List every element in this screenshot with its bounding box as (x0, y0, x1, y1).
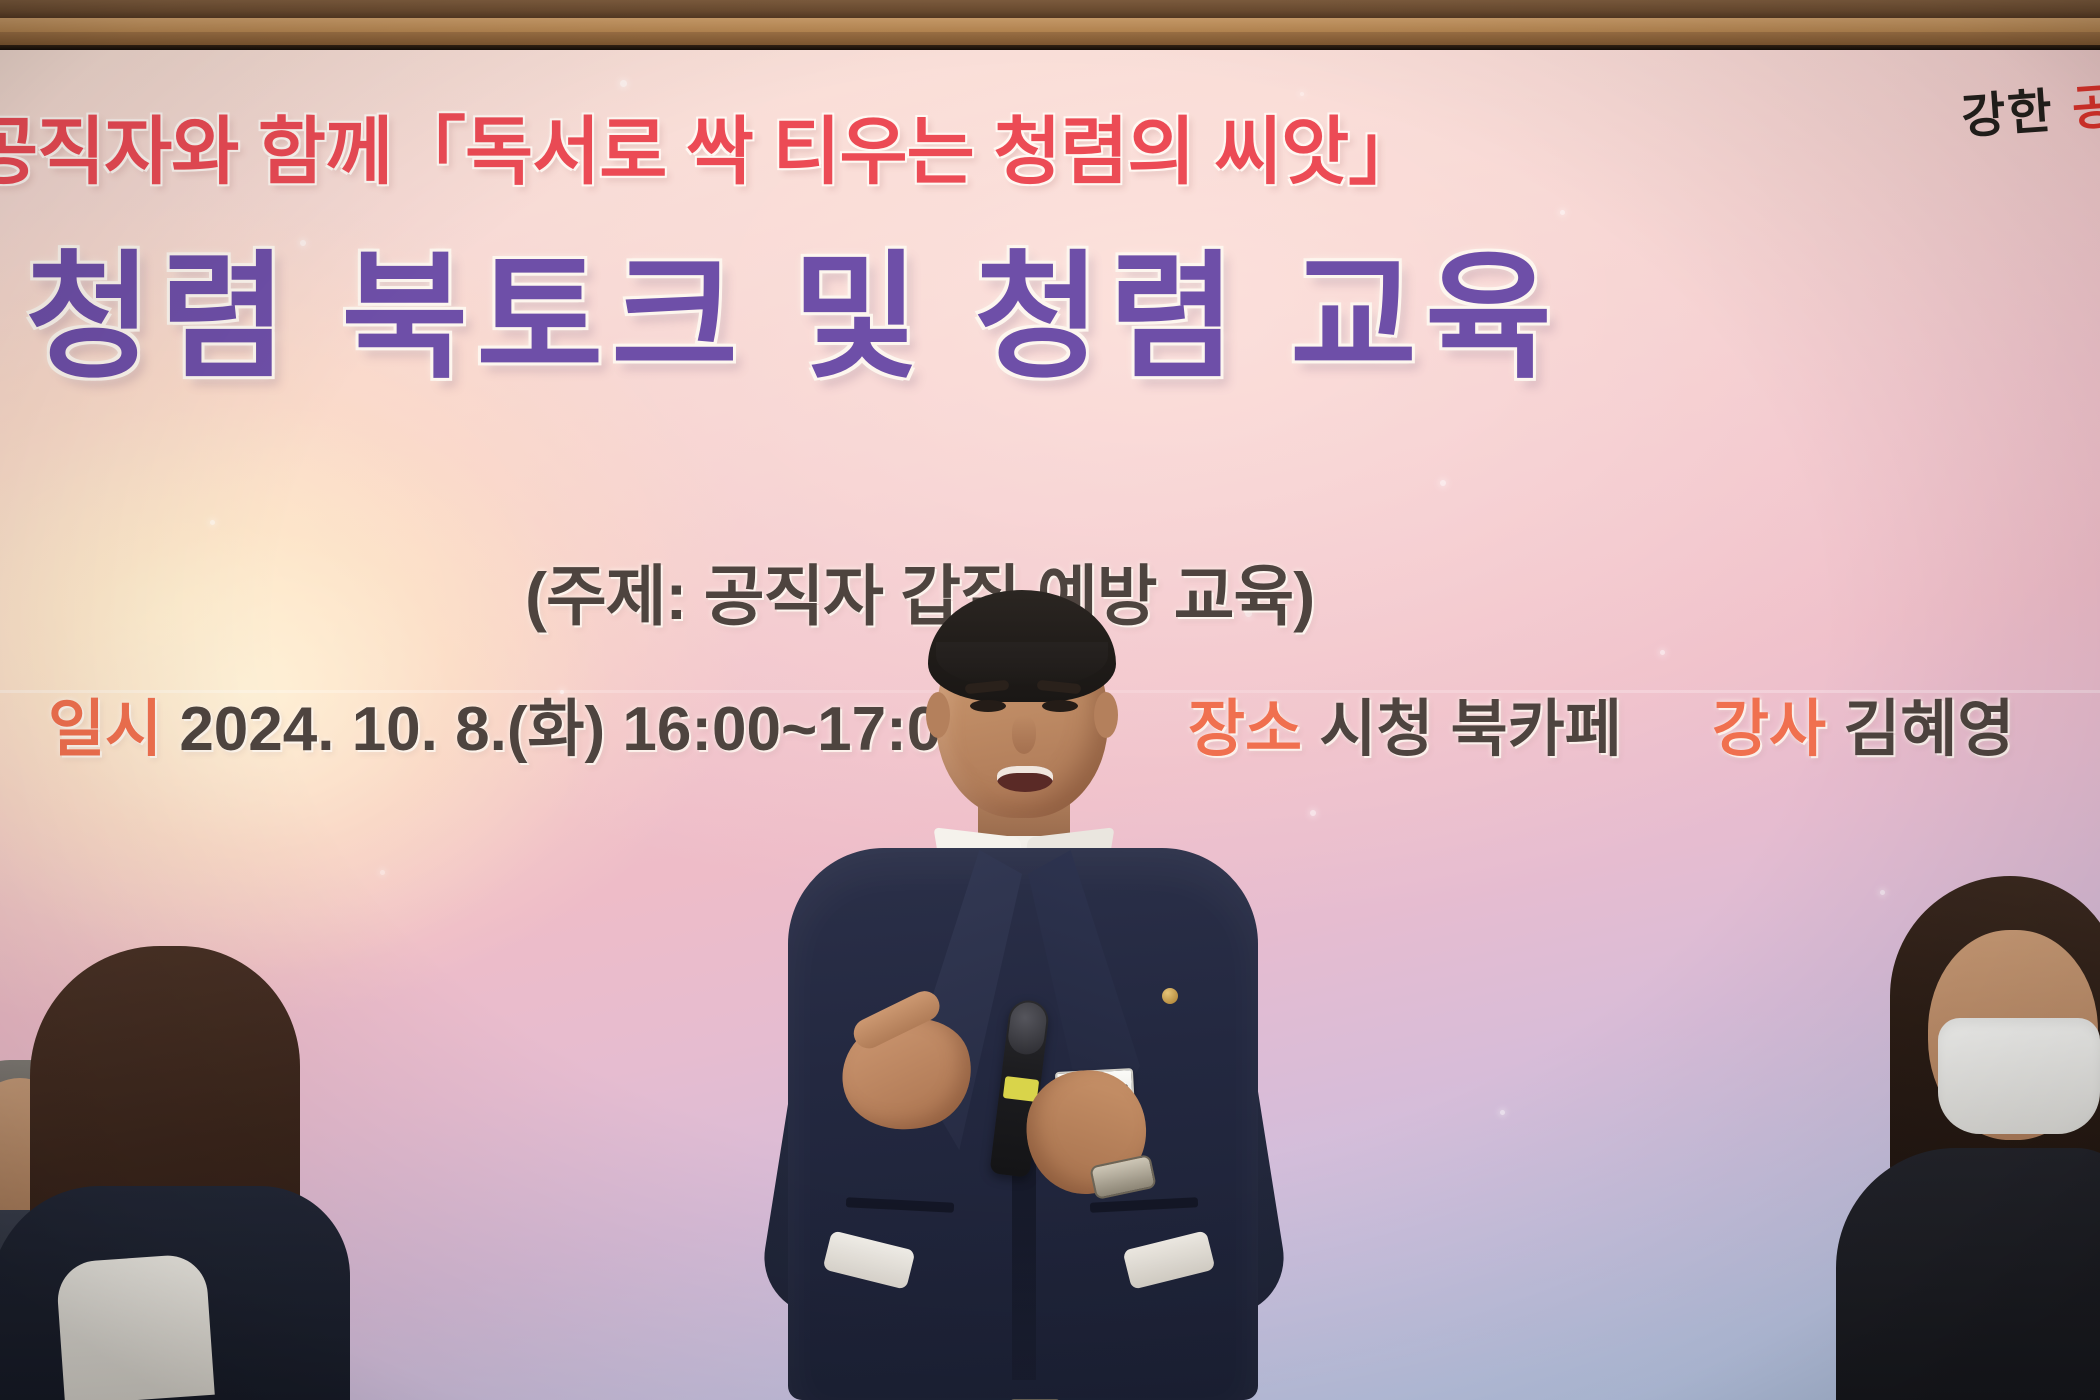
sparkle (1440, 480, 1446, 486)
banner-title: 청렴 북토크 및 청렴 교육 (25, 205, 1560, 405)
ceiling (0, 0, 2100, 18)
speaker-eye-left (970, 700, 1006, 712)
info-lecturer-value: 김혜영 (1843, 695, 2014, 764)
sparkle (1560, 210, 1565, 215)
speaker-nose (1012, 716, 1036, 754)
event-photo-scene: 공직자와 함께「독서로 싹 티우는 청렴의 씨앗」 청렴 북토크 및 청렴 교육… (0, 0, 2100, 1400)
sparkle (1310, 810, 1316, 816)
audience-left-front-collar (55, 1253, 215, 1400)
info-location-value: 시청 북카페 (1319, 695, 1621, 764)
sparkle (1500, 1110, 1505, 1115)
info-datetime-label: 일시 (48, 695, 162, 764)
logo-text-dark: 강한 (1959, 83, 2055, 145)
wood-trim-highlight (0, 18, 2100, 32)
city-slogan-logo: 강한 공 (1959, 67, 2100, 148)
speaker-ear-right (1094, 692, 1118, 738)
sparkle (620, 80, 627, 87)
lapel-pin-icon (1162, 988, 1178, 1004)
audience-right-body (1836, 1148, 2100, 1400)
info-lecturer-label: 강사 (1712, 695, 1826, 764)
sparkle (1660, 650, 1665, 655)
speaker-mouth (997, 766, 1053, 792)
speaker-ear-left (926, 692, 950, 738)
speaker-eye-right (1042, 700, 1078, 712)
sparkle (210, 520, 215, 525)
speaker-man (760, 600, 1280, 1400)
wood-trim-shadow (0, 32, 2100, 45)
sparkle (1880, 890, 1885, 895)
sparkle (380, 870, 385, 875)
logo-text-red: 공 (2070, 79, 2100, 138)
face-mask-icon (1938, 1018, 2100, 1134)
speaker-hair (928, 590, 1116, 702)
banner-headline: 공직자와 함께「독서로 싹 티우는 청렴의 씨앗」 (0, 92, 1421, 199)
info-lecturer: 강사 김혜영 (1712, 678, 2014, 768)
